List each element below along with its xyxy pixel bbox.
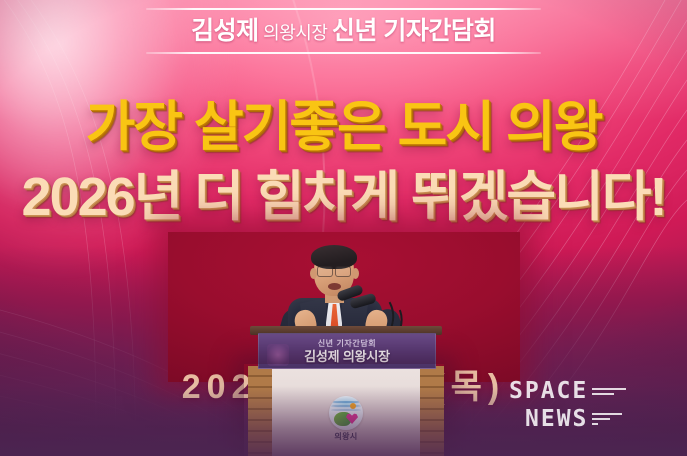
podium-nameplate: 신년 기자간담회 김성제 의왕시장 bbox=[258, 333, 436, 369]
header-rule-bottom bbox=[146, 52, 541, 54]
emblem-arc-1 bbox=[331, 401, 361, 403]
header-event: 신년 기자간담회 bbox=[332, 17, 496, 45]
city-emblem-label: 의왕시 bbox=[334, 432, 357, 441]
watermark-row-2: NEWS bbox=[489, 406, 675, 432]
slogan-line-1: 가장 살기좋은 도시 의왕 bbox=[0, 96, 687, 158]
emblem-arc-3 bbox=[331, 409, 361, 411]
podium-nameplate-event: 신년 기자간담회 bbox=[318, 339, 377, 349]
speaker-ear-left bbox=[310, 268, 317, 279]
speaker-glasses-right bbox=[335, 266, 351, 277]
city-emblem: 의왕시 bbox=[323, 396, 369, 444]
podium-nameplate-name: 김성제 의왕시장 bbox=[304, 349, 390, 364]
podium-side-left bbox=[248, 366, 272, 456]
watermark-row-1: SPACE bbox=[489, 378, 675, 404]
city-emblem-icon bbox=[329, 396, 363, 430]
watermark-line-2: NEWS bbox=[525, 406, 588, 432]
watermark-space-news: SPACE NEWS bbox=[489, 378, 675, 442]
emblem-sun-icon bbox=[350, 403, 356, 409]
podium-side-right bbox=[420, 366, 444, 456]
header-name: 김성제 bbox=[191, 17, 259, 45]
emblem-arc-2 bbox=[331, 405, 361, 407]
header-role: 의왕시장 bbox=[259, 23, 332, 43]
banner-slogan: 가장 살기좋은 도시 의왕 2026년 더 힘차게 뛰겠습니다! bbox=[0, 96, 687, 228]
slogan-line-2: 2026년 더 힘차게 뛰겠습니다! bbox=[0, 166, 687, 228]
speaker-mouth bbox=[328, 283, 341, 290]
banner-header: 김성제 의왕시장 신년 기자간담회 bbox=[0, 8, 687, 54]
speaker-ear-right bbox=[352, 268, 359, 279]
speaker-glasses-left bbox=[317, 266, 333, 277]
screenshot-root: 김성제 의왕시장 신년 기자간담회 가장 살기좋은 도시 의왕 2026년 더 … bbox=[0, 0, 687, 456]
watermark-dashes-2 bbox=[592, 413, 622, 425]
header-title: 김성제 의왕시장 신년 기자간담회 bbox=[0, 15, 687, 49]
watermark-line-1: SPACE bbox=[509, 378, 588, 404]
watermark-dashes-1 bbox=[592, 388, 626, 395]
header-rule-top bbox=[146, 8, 541, 10]
podium-nameplate-mark bbox=[267, 344, 289, 366]
